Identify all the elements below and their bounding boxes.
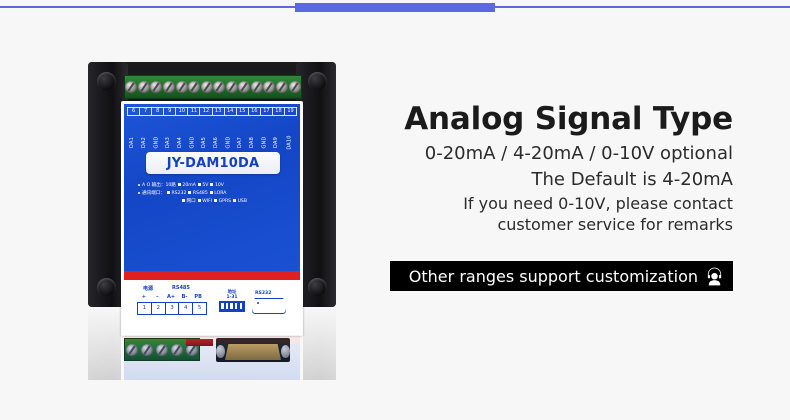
terminal-screw (201, 81, 213, 93)
top-terminal-block (124, 75, 302, 99)
customer-service-icon (705, 267, 724, 286)
top-divider-accent-bar (295, 3, 495, 12)
mounting-hole (97, 72, 116, 91)
terminal-number: 7 (139, 107, 151, 115)
dip-switch-toggle (240, 303, 242, 309)
terminal-number: 11 (187, 107, 199, 115)
terminal-screw (226, 81, 238, 93)
terminal-screw (238, 81, 250, 93)
spec-line-ports: 通讯端口：RS232RS485LORA (138, 190, 296, 198)
copy-line-contact-b: customer service for remarks (380, 214, 733, 235)
pin-number-row: 12345 (137, 302, 207, 315)
terminal-label-text: DA1 (130, 137, 135, 148)
pin-number: 4 (179, 303, 193, 314)
terminal-screw (289, 81, 301, 93)
terminal-label-text: DA2 (142, 137, 147, 148)
terminal-label-text: DA5 (202, 137, 207, 148)
red-dip-switch (186, 339, 213, 346)
pin-number: 5 (193, 303, 206, 314)
rs232-label: RS232 (255, 291, 271, 296)
spec-opt-rs232: RS232 (171, 191, 186, 196)
terminal-label-text: DA4 (178, 137, 183, 148)
terminal-number: 18 (272, 107, 284, 115)
db9-post (281, 345, 290, 358)
spec-ports-text: 通讯端口： (142, 191, 165, 196)
terminal-label: GND (223, 117, 235, 145)
terminal-screw (188, 81, 200, 93)
terminal-number: 16 (248, 107, 260, 115)
terminal-label: DA7 (235, 117, 247, 145)
customization-banner: Other ranges support customization (390, 261, 733, 291)
terminal-label: DA5 (199, 117, 211, 145)
mounting-hole (97, 278, 116, 297)
terminal-label-text: DA10 (287, 135, 292, 149)
address-range: 1-31 (219, 295, 245, 300)
spec-opt-usb: USB (238, 199, 247, 204)
terminal-label: GND (259, 117, 271, 145)
copy-line-options: 0-20mA / 4-20mA / 0-10V optional (380, 141, 733, 167)
terminal-label-text: GND (190, 136, 195, 148)
marketing-copy: Analog Signal Type 0-20mA / 4-20mA / 0-1… (380, 100, 733, 235)
rs485-label: RS485 (172, 285, 190, 291)
device-faceplate: 678910111213141516171819 DA1DA2GNDDA3DA4… (121, 101, 303, 336)
copy-line-default: The Default is 4-20mA (380, 167, 733, 193)
terminal-screw (163, 81, 175, 93)
terminal-number: 19 (284, 107, 297, 115)
number-row-bottom-rule (127, 115, 297, 116)
copy-line-contact-a: If you need 0-10V, please contact (380, 193, 733, 214)
terminal-label: DA2 (139, 117, 151, 145)
db9-post (216, 345, 225, 358)
mounting-hole (308, 72, 327, 91)
spec-line-ports-2: 网口WIFIGPRSUSB (138, 198, 296, 206)
spec-opt-10v: 10V (215, 183, 224, 188)
terminal-number-row: 678910111213141516171819 (127, 107, 297, 115)
terminal-screw (138, 81, 150, 93)
dip-switch-toggle (235, 303, 237, 309)
terminal-label-row: DA1DA2GNDDA3DA4GNDDA5DA6GNDDA7DA8GNDDA9D… (127, 117, 297, 145)
terminal-label-text: GND (226, 136, 231, 148)
terminal-label-text: GND (262, 136, 267, 148)
pin-name: – (151, 294, 165, 300)
spec-output-text: A O 输出：10路 (142, 183, 176, 188)
device-bottom-label: 电源 RS485 +–A+B-PB 12345 地址 1-31 RS232 (124, 276, 300, 333)
terminal-screw (141, 344, 153, 356)
mounting-hole (308, 278, 327, 297)
terminal-screw (125, 81, 137, 93)
terminal-label: GND (187, 117, 199, 145)
dip-switch-icon (219, 301, 245, 312)
db9-connector (216, 338, 290, 362)
terminal-number: 8 (151, 107, 163, 115)
spec-opt-lora: LORA (214, 191, 226, 196)
power-label: 电源 (143, 285, 153, 292)
terminal-label: DA1 (127, 117, 139, 145)
terminal-label-text: DA8 (250, 137, 255, 148)
spec-opt-ethernet: 网口 (187, 199, 196, 204)
device-blue-label: 678910111213141516171819 DA1DA2GNDDA3DA4… (124, 104, 300, 276)
address-switch-group: 地址 1-31 (219, 290, 245, 312)
dip-switch-toggle (230, 303, 232, 309)
terminal-number: 14 (224, 107, 236, 115)
pin-name: + (137, 294, 151, 300)
dip-switch-toggle (226, 303, 228, 309)
terminal-screw (171, 344, 183, 356)
pin-name: A+ (164, 294, 178, 300)
terminal-label: DA4 (175, 117, 187, 145)
terminal-screw (156, 344, 168, 356)
terminal-screw-row (125, 79, 301, 95)
rs232-connector-icon (252, 298, 286, 314)
spec-opt-wifi: WIFI (202, 199, 212, 204)
terminal-number: 6 (127, 107, 139, 115)
terminal-number: 15 (236, 107, 248, 115)
model-logo-plate: JY-DAM10DA (146, 152, 280, 174)
terminal-number: 10 (175, 107, 187, 115)
db9-shell (225, 344, 281, 360)
terminal-screw (213, 81, 225, 93)
terminal-screw (263, 81, 275, 93)
terminal-screw (126, 344, 138, 356)
terminal-number: 17 (260, 107, 272, 115)
product-image: 678910111213141516171819 DA1DA2GNDDA3DA4… (88, 62, 336, 307)
terminal-label: DA10 (283, 117, 297, 145)
spec-line-output: A O 输出：10路20mA5V10V (138, 182, 296, 190)
pin-name-row: +–A+B-PB (137, 294, 205, 300)
terminal-label: GND (151, 117, 163, 145)
page-title: Analog Signal Type (380, 100, 733, 138)
terminal-screw (276, 81, 288, 93)
terminal-label-text: GND (154, 136, 159, 148)
terminal-label-text: DA7 (238, 137, 243, 148)
terminal-label: DA8 (247, 117, 259, 145)
terminal-screw (251, 81, 263, 93)
spec-opt-rs485: RS485 (193, 191, 208, 196)
terminal-label-text: DA3 (166, 137, 171, 148)
spec-opt-20ma: 20mA (182, 183, 195, 188)
spec-opt-5v: 5V (202, 183, 208, 188)
number-row-top-rule (127, 107, 297, 108)
terminal-screw (150, 81, 162, 93)
model-name: JY-DAM10DA (167, 156, 259, 171)
pin-name: B- (178, 294, 192, 300)
terminal-number: 9 (163, 107, 175, 115)
dip-switch-toggle (221, 303, 223, 309)
terminal-label: DA6 (211, 117, 223, 145)
terminal-label-text: DA6 (214, 137, 219, 148)
terminal-label: DA9 (271, 117, 283, 145)
pin-number: 3 (166, 303, 180, 314)
terminal-number: 12 (199, 107, 211, 115)
spec-opt-gprs: GPRS (219, 199, 231, 204)
red-divider-band (124, 276, 300, 280)
pin-number: 1 (138, 303, 152, 314)
pin-name: PB (191, 294, 205, 300)
terminal-label-text: DA9 (274, 137, 279, 148)
terminal-number: 13 (212, 107, 224, 115)
banner-text: Other ranges support customization (409, 267, 698, 286)
terminal-label: DA3 (163, 117, 175, 145)
device-spec-list: A O 输出：10路20mA5V10V 通讯端口：RS232RS485LORA … (138, 182, 296, 206)
pin-number: 2 (152, 303, 166, 314)
terminal-screw (176, 81, 188, 93)
